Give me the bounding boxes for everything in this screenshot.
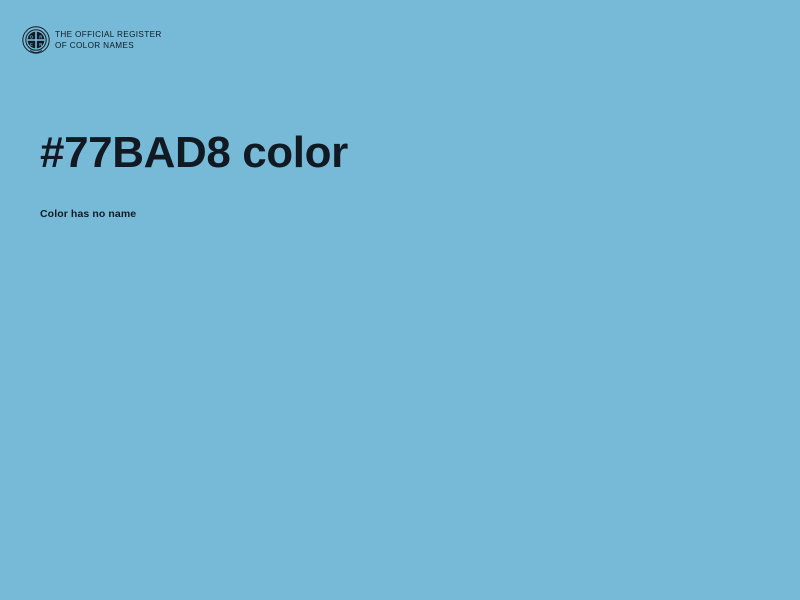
color-name-status: Color has no name — [40, 178, 760, 221]
page-title: #77BAD8 color — [40, 128, 760, 178]
brand-line-1: THE OFFICIAL REGISTER — [55, 30, 162, 41]
brand-wordmark: THE OFFICIAL REGISTER OF COLOR NAMES — [55, 30, 162, 51]
svg-text:N: N — [39, 42, 42, 47]
color-info: #77BAD8 color Color has no name — [40, 128, 760, 221]
brand-line-2: OF COLOR NAMES — [55, 41, 162, 52]
brand-header[interactable]: O R C N THE OFFICIAL REGISTER OF COLOR N… — [22, 26, 162, 54]
official-register-seal-icon: O R C N — [22, 26, 50, 54]
svg-text:R: R — [39, 34, 42, 39]
color-page: O R C N THE OFFICIAL REGISTER OF COLOR N… — [0, 0, 800, 600]
svg-text:C: C — [30, 42, 33, 47]
